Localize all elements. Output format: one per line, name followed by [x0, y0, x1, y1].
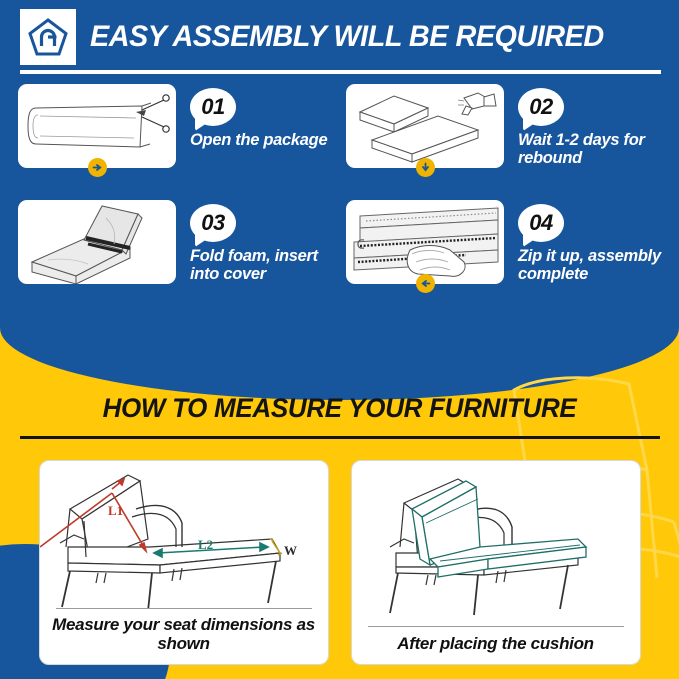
- measure-panels: L1 L2: [0, 460, 679, 665]
- panel-after-cushion: After placing the cushion: [351, 460, 641, 665]
- step-01-number: 01: [190, 88, 236, 126]
- step-04-text: 04 Zip it up, assembly complete: [518, 200, 679, 284]
- panel-measure-dimensions: L1 L2: [39, 460, 329, 665]
- step-03-text: 03 Fold foam, insert into cover: [190, 200, 340, 284]
- step-04-number: 04: [518, 204, 564, 242]
- chaise-lounge-dimensions-icon: L1 L2: [40, 461, 328, 608]
- step-03-label: Fold foam, insert into cover: [190, 247, 340, 284]
- steps-grid: 01 Open the package: [0, 84, 679, 284]
- step-03: 03 Fold foam, insert into cover: [0, 200, 340, 284]
- panel-1-caption: Measure your seat dimensions as shown: [40, 609, 328, 664]
- measure-section: HOW TO MEASURE YOUR FURNITURE: [0, 340, 679, 679]
- dimension-label-l1: L1: [108, 503, 123, 518]
- step-03-illustration-card: [18, 200, 176, 284]
- assembly-header: EASY ASSEMBLY WILL BE REQUIRED: [20, 8, 660, 66]
- step-02-number: 02: [518, 88, 564, 126]
- measure-divider: [20, 436, 660, 439]
- steps-row-1: 01 Open the package: [0, 84, 679, 168]
- step-01: 01 Open the package: [0, 84, 340, 168]
- step-04: 04 Zip it up, assembly complete: [340, 200, 679, 284]
- step-03-number: 03: [190, 204, 236, 242]
- panel-2-caption: After placing the cushion: [352, 627, 640, 664]
- steps-row-2: 03 Fold foam, insert into cover: [0, 200, 679, 284]
- dimension-label-w: W: [284, 543, 297, 558]
- hand-zipping-cover-icon: [346, 200, 504, 284]
- home-pentagon-icon: [20, 9, 76, 65]
- step-01-label: Open the package: [190, 131, 340, 149]
- arrow-down-icon: [416, 158, 435, 177]
- package-with-scissors-icon: [18, 84, 176, 168]
- arrow-left-icon: [416, 274, 435, 293]
- step-01-illustration-card: [18, 84, 176, 168]
- step-02-label: Wait 1-2 days for rebound: [518, 131, 679, 168]
- foam-slabs-with-hairdryer-icon: [346, 84, 504, 168]
- step-04-illustration-card: [346, 200, 504, 284]
- measure-title: HOW TO MEASURE YOUR FURNITURE: [7, 393, 672, 424]
- step-02-text: 02 Wait 1-2 days for rebound: [518, 84, 679, 168]
- step-04-label: Zip it up, assembly complete: [518, 247, 679, 284]
- header-divider: [20, 70, 661, 74]
- folded-foam-cushion-icon: [18, 200, 176, 284]
- infographic-page: EASY ASSEMBLY WILL BE REQUIRED: [0, 0, 679, 679]
- step-02-illustration-card: [346, 84, 504, 168]
- step-01-text: 01 Open the package: [190, 84, 340, 149]
- arrow-right-icon: [88, 158, 107, 177]
- header-title: EASY ASSEMBLY WILL BE REQUIRED: [90, 22, 604, 52]
- step-02: 02 Wait 1-2 days for rebound: [340, 84, 679, 168]
- dimension-label-l2: L2: [198, 537, 213, 552]
- chaise-lounge-with-cushion-icon: [352, 461, 640, 626]
